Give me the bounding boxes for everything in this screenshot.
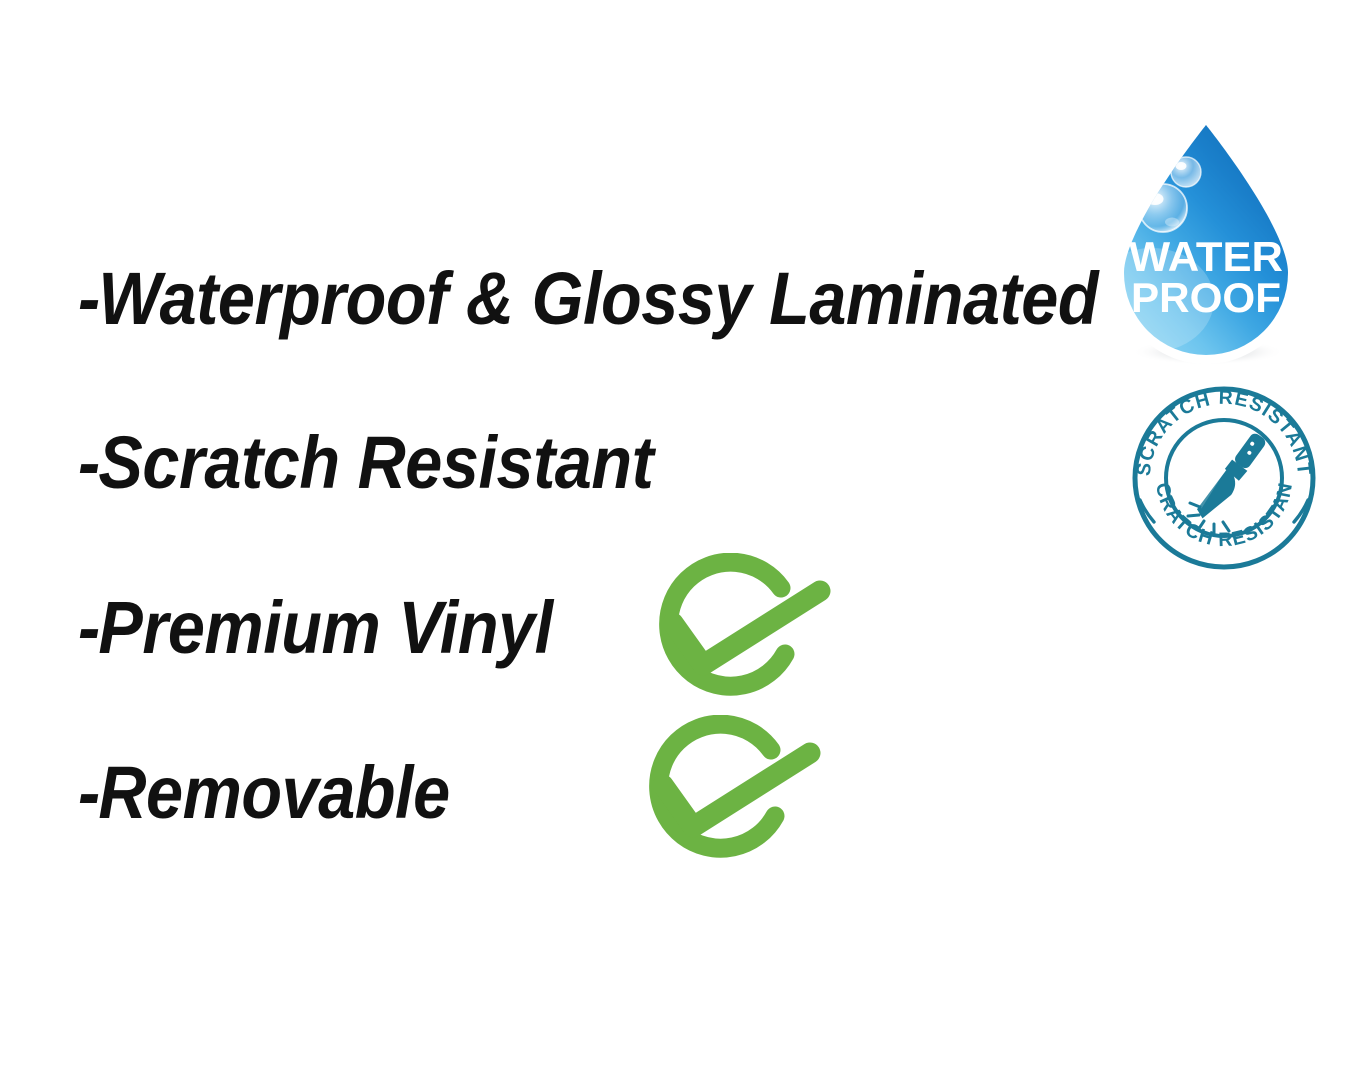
feature-label: Removable [98,751,449,834]
green-check-circle-icon [638,553,848,713]
stamp-top-text: SCRATCH RESISTANT [1133,387,1315,477]
feature-dash: - [78,751,98,834]
scratch-resistant-stamp-icon: SCRATCH RESISTANT SCRATCH RESISTANT [1128,382,1320,574]
waterproof-line1: WATER [1129,233,1283,280]
waterproof-drop-icon: WATER PROOF [1100,105,1312,365]
check-mark-stroke [663,753,810,827]
feature-dash: - [78,421,98,504]
knife-icon [1195,422,1269,530]
feature-label: Premium Vinyl [98,586,552,669]
feature-dash: - [78,586,98,669]
feature-item-scratch-resistant: -Scratch Resistant [78,426,653,500]
feature-label: Waterproof & Glossy Laminated [98,257,1098,340]
feature-graphic-canvas: -Waterproof & Glossy Laminated -Scratch … [0,0,1359,1080]
feature-item-premium-vinyl: -Premium Vinyl [78,591,553,665]
check-mark-stroke [673,591,820,665]
feature-item-waterproof-glossy-laminated: -Waterproof & Glossy Laminated [78,262,1098,336]
feature-item-removable: -Removable [78,756,450,830]
scratch-resistant-badge: SCRATCH RESISTANT SCRATCH RESISTANT [1128,382,1320,574]
check-icon-premium-vinyl [638,553,848,713]
green-check-circle-icon [628,715,838,875]
waterproof-line2: PROOF [1131,274,1281,321]
check-icon-removable [628,715,838,875]
waterproof-badge: WATER PROOF [1100,105,1312,365]
feature-label: Scratch Resistant [98,421,653,504]
feature-dash: - [78,257,98,340]
